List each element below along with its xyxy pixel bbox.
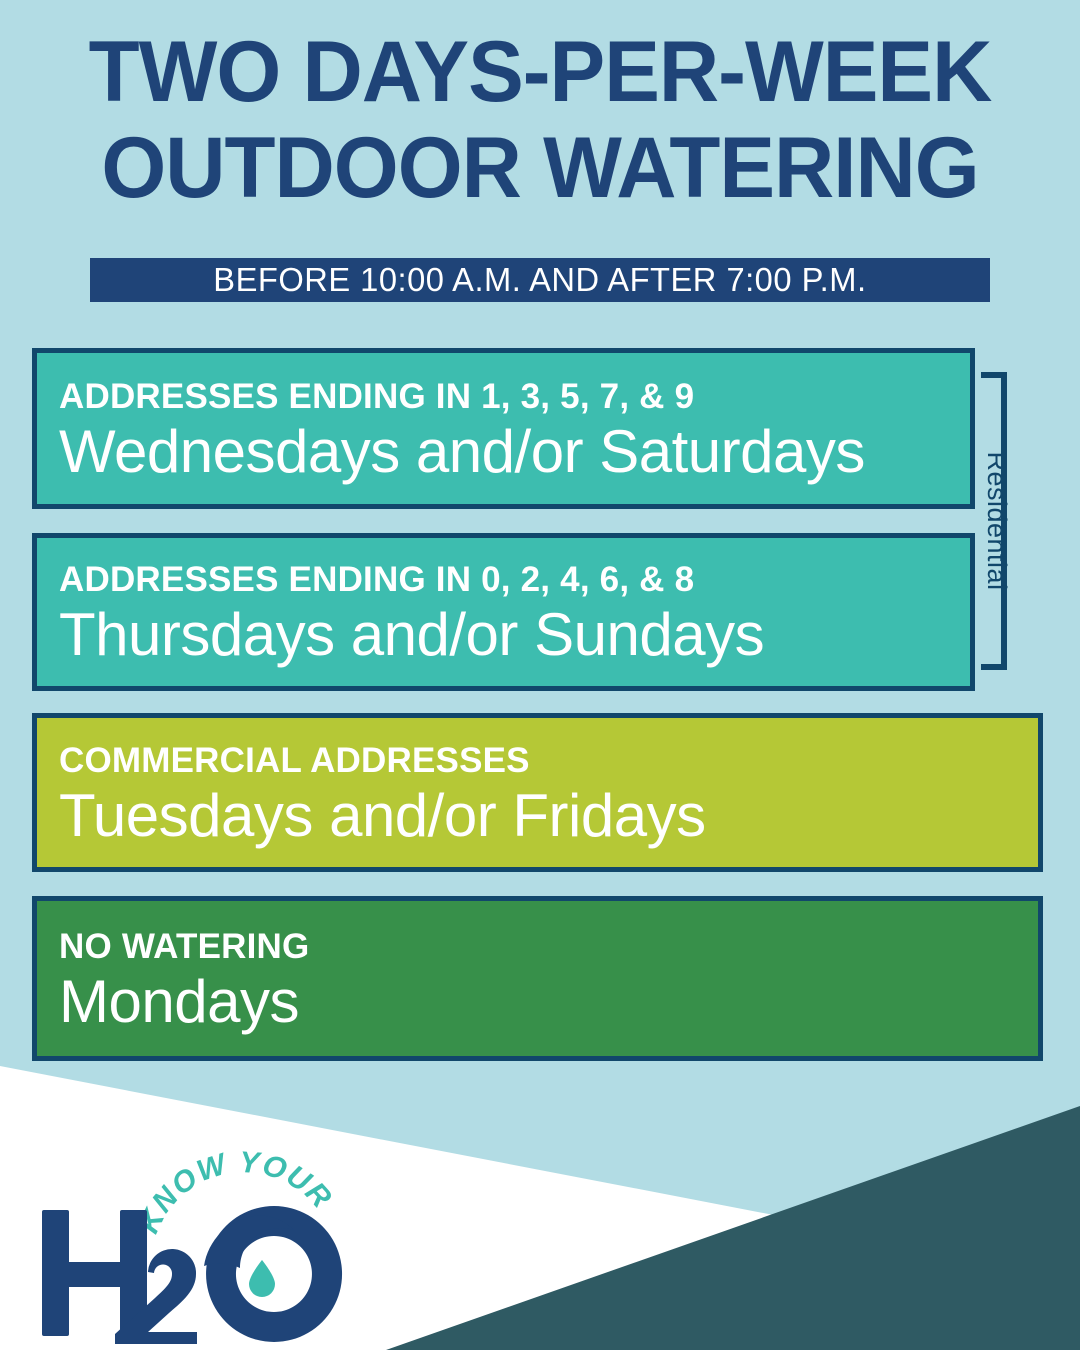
logo-letter-h: [42, 1210, 147, 1336]
residential-bracket-label: Residential: [982, 372, 1012, 670]
rule-days: Tuesdays and/or Fridays: [59, 782, 1038, 850]
poster-canvas: TWO DAYS-PER-WEEK OUTDOOR WATERING BEFOR…: [0, 0, 1080, 1350]
rule-heading: ADDRESSES ENDING IN 1, 3, 5, 7, & 9: [59, 376, 970, 418]
subtitle-text: BEFORE 10:00 A.M. AND AFTER 7:00 P.M.: [213, 261, 866, 299]
rule-bar-odd-addresses: ADDRESSES ENDING IN 1, 3, 5, 7, & 9 Wedn…: [32, 348, 975, 509]
rule-bar-even-addresses: ADDRESSES ENDING IN 0, 2, 4, 6, & 8 Thur…: [32, 533, 975, 691]
rule-heading: COMMERCIAL ADDRESSES: [59, 740, 1038, 782]
rule-heading: NO WATERING: [59, 926, 1038, 968]
rule-bar-no-watering: NO WATERING Mondays: [32, 896, 1043, 1061]
rule-days: Mondays: [59, 968, 1038, 1036]
poster-title: TWO DAYS-PER-WEEK OUTDOOR WATERING: [0, 24, 1080, 216]
logo-water-droplet-icon: [249, 1260, 275, 1297]
logo-letter-o: [204, 1206, 342, 1342]
know-your-h2o-logo: KNOW YOUR: [36, 1148, 366, 1344]
title-line-2: OUTDOOR WATERING: [16, 120, 1064, 216]
rule-heading: ADDRESSES ENDING IN 0, 2, 4, 6, & 8: [59, 559, 970, 601]
rule-days: Wednesdays and/or Saturdays: [59, 418, 970, 486]
rule-bar-commercial-addresses: COMMERCIAL ADDRESSES Tuesdays and/or Fri…: [32, 713, 1043, 872]
rule-days: Thursdays and/or Sundays: [59, 601, 970, 669]
title-line-1: TWO DAYS-PER-WEEK: [16, 24, 1064, 120]
subtitle-band: BEFORE 10:00 A.M. AND AFTER 7:00 P.M.: [90, 258, 990, 302]
